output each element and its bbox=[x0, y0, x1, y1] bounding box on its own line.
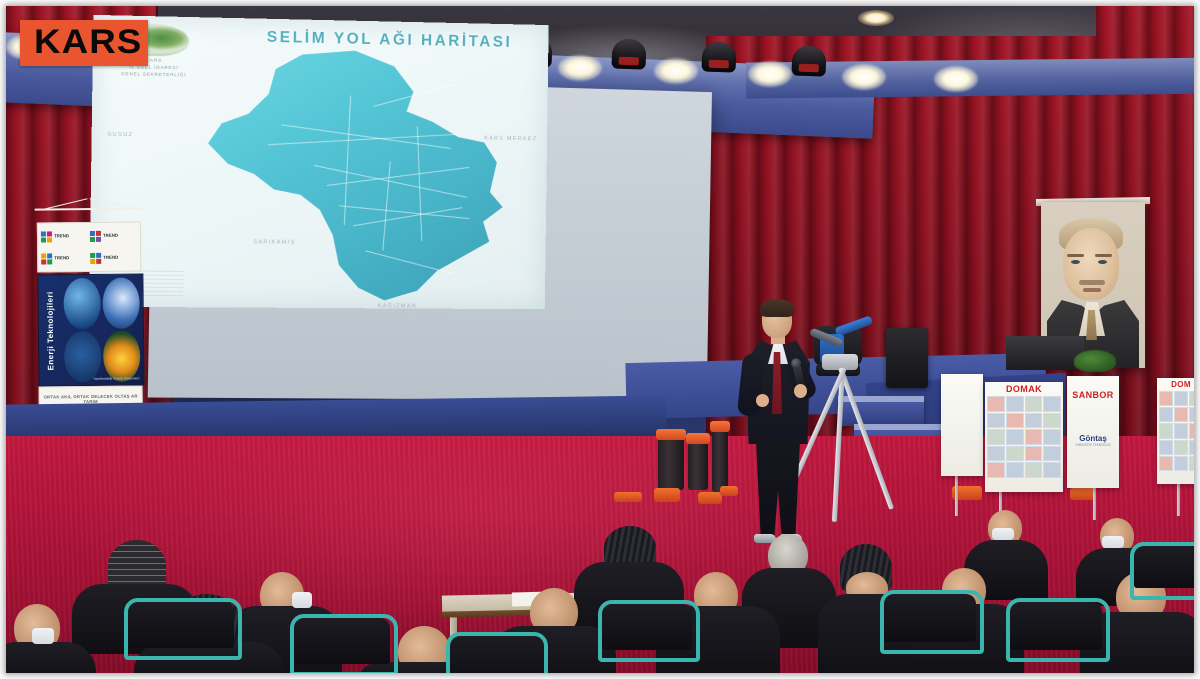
equipment-base bbox=[614, 492, 642, 502]
product-thumb bbox=[987, 446, 1005, 462]
product-thumb bbox=[987, 396, 1005, 412]
face-mask bbox=[292, 592, 312, 608]
projection-screen: KARS İL ÖZEL İDARESİ GENEL SEKRETERLİĞİ … bbox=[89, 15, 548, 309]
stage-light-icon bbox=[611, 38, 646, 69]
product-thumb bbox=[1025, 446, 1043, 462]
product-thumbnail-grid bbox=[1157, 389, 1194, 473]
product-thumb bbox=[1189, 407, 1194, 422]
trend-logo-icon bbox=[41, 253, 52, 264]
presenter bbox=[738, 302, 820, 552]
ceiling-downlight-icon bbox=[858, 10, 894, 26]
map-label: SARIKAMIŞ bbox=[253, 239, 295, 245]
hydraulic-cylinder bbox=[658, 438, 684, 490]
kars-watermark-text: KARS bbox=[34, 25, 142, 59]
exhibition-footer-sub: ENDÜSTRİ TEKNOLOJİ bbox=[1067, 443, 1119, 447]
product-thumb bbox=[1043, 429, 1061, 445]
hydraulic-cylinder bbox=[712, 430, 728, 492]
product-thumb bbox=[1006, 396, 1024, 412]
product-thumb bbox=[1189, 456, 1194, 471]
product-thumb bbox=[1159, 456, 1173, 471]
product-thumb bbox=[1159, 407, 1173, 422]
product-thumb bbox=[1025, 413, 1043, 429]
exhibition-banner-title: DOMAK bbox=[985, 384, 1063, 394]
product-thumb bbox=[1189, 391, 1194, 406]
trend-logo-icon bbox=[90, 252, 101, 263]
product-thumb bbox=[1025, 462, 1043, 478]
auditorium-chair bbox=[124, 598, 242, 660]
portrait-mouth bbox=[1083, 288, 1101, 292]
exhibition-stands: DOMAK bbox=[941, 358, 1194, 518]
product-thumb bbox=[1025, 429, 1043, 445]
attendee-shoulders bbox=[6, 642, 96, 673]
product-thumb bbox=[1006, 413, 1024, 429]
brand-cell: TREND bbox=[41, 226, 88, 246]
product-thumb bbox=[987, 429, 1005, 445]
portrait-eye-right bbox=[1098, 260, 1107, 264]
face-mask bbox=[992, 528, 1014, 540]
product-thumb bbox=[1025, 396, 1043, 412]
district-polygon bbox=[179, 47, 511, 301]
portrait-brow-right bbox=[1095, 254, 1112, 257]
equipment-base bbox=[720, 486, 738, 496]
presenter-legs bbox=[754, 440, 802, 538]
brand-name: TREND bbox=[54, 234, 69, 239]
exhibition-banner: DOMAK bbox=[985, 382, 1063, 492]
road-network-map: SUSUZ KARS MERKEZ SARIKAMIŞ KAĞIZMAN bbox=[179, 47, 511, 301]
stage-light-icon bbox=[791, 45, 826, 76]
product-thumb bbox=[1006, 429, 1024, 445]
exhibition-banner-footer: Göntaş ENDÜSTRİ TEKNOLOJİ bbox=[1067, 434, 1119, 447]
banner-brand-grid: TREND TREND TREND bbox=[37, 221, 142, 272]
product-thumb bbox=[1159, 423, 1173, 438]
auditorium-chair bbox=[1006, 598, 1110, 662]
equipment-base bbox=[654, 488, 680, 502]
brand-name: TREND bbox=[103, 255, 118, 260]
face-mask bbox=[1102, 536, 1124, 548]
product-thumb bbox=[1189, 440, 1194, 455]
map-label: KARS MERKEZ bbox=[484, 135, 537, 142]
portrait-brow-left bbox=[1067, 254, 1084, 257]
map-label: KAĞIZMAN bbox=[378, 303, 417, 309]
banner-vertical-text: Enerji Teknolojileri bbox=[45, 291, 55, 370]
exhibition-footer-brand: Göntaş bbox=[1079, 434, 1107, 443]
product-thumb bbox=[1159, 440, 1173, 455]
grid-image-icon bbox=[64, 331, 102, 382]
presenter-hair bbox=[760, 299, 794, 317]
energy-image-icon bbox=[63, 278, 101, 329]
wind-image-icon bbox=[102, 277, 140, 328]
presentation-slide: KARS İL ÖZEL İDARESİ GENEL SEKRETERLİĞİ … bbox=[89, 15, 548, 309]
trend-logo-icon bbox=[90, 230, 101, 241]
brand-cell: TREND bbox=[90, 226, 137, 246]
product-thumb bbox=[987, 413, 1005, 429]
exhibition-banner-title: DOM bbox=[1157, 380, 1194, 389]
trend-logo-icon bbox=[41, 231, 52, 242]
auditorium-chair bbox=[1130, 542, 1194, 600]
product-thumbnail-grid bbox=[985, 394, 1063, 480]
product-thumb bbox=[1174, 440, 1188, 455]
solar-image-icon bbox=[103, 330, 141, 381]
face-mask bbox=[32, 628, 54, 644]
conference-photo: KARS İL ÖZEL İDARESİ GENEL SEKRETERLİĞİ … bbox=[6, 6, 1194, 673]
product-thumb bbox=[1174, 407, 1188, 422]
tripod-leg bbox=[838, 367, 894, 510]
exhibition-banner: DOM bbox=[1157, 378, 1194, 484]
presenter-hand-left bbox=[756, 394, 769, 407]
product-thumb bbox=[1174, 423, 1188, 438]
spotlight-icon bbox=[654, 58, 698, 84]
kars-watermark-logo: KARS bbox=[20, 20, 148, 66]
map-label: SUSUZ bbox=[107, 132, 133, 138]
loudspeaker-cabinet bbox=[886, 328, 928, 388]
brand-name: TREND bbox=[103, 233, 118, 238]
spotlight-icon bbox=[934, 66, 978, 92]
exhibition-banner: SANBOR Göntaş ENDÜSTRİ TEKNOLOJİ bbox=[1067, 376, 1119, 488]
portrait-moustache bbox=[1079, 280, 1105, 285]
banner-vertical-title: Enerji Teknolojileri bbox=[38, 275, 61, 385]
exhibition-banner bbox=[941, 374, 983, 476]
photo-frame: KARS İL ÖZEL İDARESİ GENEL SEKRETERLİĞİ … bbox=[0, 0, 1200, 679]
product-thumb bbox=[1006, 446, 1024, 462]
product-thumb bbox=[1174, 391, 1188, 406]
spotlight-icon bbox=[558, 55, 602, 81]
spotlight-icon bbox=[842, 64, 886, 90]
product-thumb bbox=[1043, 396, 1061, 412]
portrait-eye-left bbox=[1071, 260, 1080, 264]
product-thumb bbox=[1043, 413, 1061, 429]
brand-name: TREND bbox=[54, 256, 69, 261]
spotlight-icon bbox=[748, 61, 792, 87]
brand-cell: TREND bbox=[90, 248, 137, 268]
auditorium-chair bbox=[290, 614, 398, 673]
auditorium-chair bbox=[446, 632, 548, 673]
product-thumb bbox=[1043, 446, 1061, 462]
auditorium-chair bbox=[880, 590, 984, 654]
product-thumb bbox=[1043, 462, 1061, 478]
presenter-hand-right bbox=[794, 384, 807, 398]
product-thumb bbox=[1006, 462, 1024, 478]
equipment-base bbox=[698, 492, 722, 504]
banner-main-panel: Enerji Teknolojileri Yenilenebilir Enerj… bbox=[37, 273, 144, 386]
product-thumb bbox=[1189, 423, 1194, 438]
brand-cell: TREND bbox=[41, 248, 88, 268]
hydraulic-cylinder bbox=[688, 442, 708, 490]
stage-light-icon bbox=[701, 41, 736, 72]
auditorium-chair bbox=[598, 600, 700, 662]
product-thumb bbox=[987, 462, 1005, 478]
product-thumb bbox=[1159, 391, 1173, 406]
banner-image-grid: Yenilenebilir Enerji Sistemleri bbox=[60, 274, 143, 385]
product-thumb bbox=[1174, 456, 1188, 471]
banner-panel-caption: Yenilenebilir Enerji Sistemleri bbox=[93, 377, 139, 382]
exhibition-banner-title: SANBOR bbox=[1067, 390, 1119, 400]
